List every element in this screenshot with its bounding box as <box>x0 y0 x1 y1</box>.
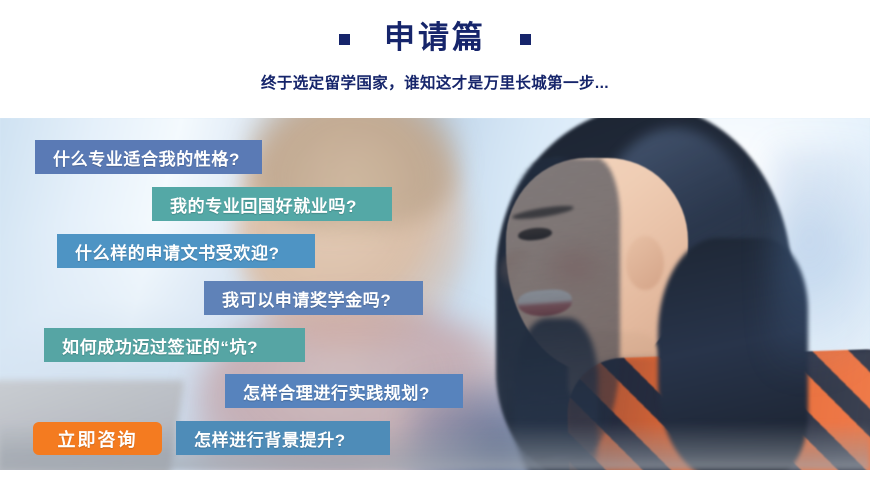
question-bubble-2[interactable]: 我的专业回国好就业吗? <box>152 187 392 221</box>
banner-header: 申请篇 终于选定留学国家，谁知这才是万里长城第一步... <box>0 0 870 118</box>
question-bubble-7[interactable]: 怎样进行背景提升? <box>176 421 390 455</box>
consult-now-button[interactable]: 立即咨询 <box>33 422 162 455</box>
footer-spacer <box>0 470 870 492</box>
square-bullet-left-icon <box>339 34 350 45</box>
square-bullet-right-icon <box>520 34 531 45</box>
photo-right-glow <box>770 148 870 378</box>
question-bubble-4[interactable]: 我可以申请奖学金吗? <box>204 281 423 315</box>
question-bubble-5[interactable]: 如何成功迈过签证的“坑? <box>44 328 305 362</box>
question-bubble-1[interactable]: 什么专业适合我的性格? <box>35 140 262 174</box>
student-hair-strands <box>500 158 620 458</box>
title-row: 申请篇 <box>0 22 870 53</box>
question-bubble-6[interactable]: 怎样合理进行实践规划? <box>225 374 463 408</box>
page-title: 申请篇 <box>384 22 486 53</box>
student-ear <box>626 236 664 290</box>
page-subtitle: 终于选定留学国家，谁知这才是万里长城第一步... <box>0 71 870 93</box>
promo-banner: 申请篇 终于选定留学国家，谁知这才是万里长城第一步... <box>0 0 870 492</box>
question-bubble-3[interactable]: 什么样的申请文书受欢迎? <box>57 234 315 268</box>
